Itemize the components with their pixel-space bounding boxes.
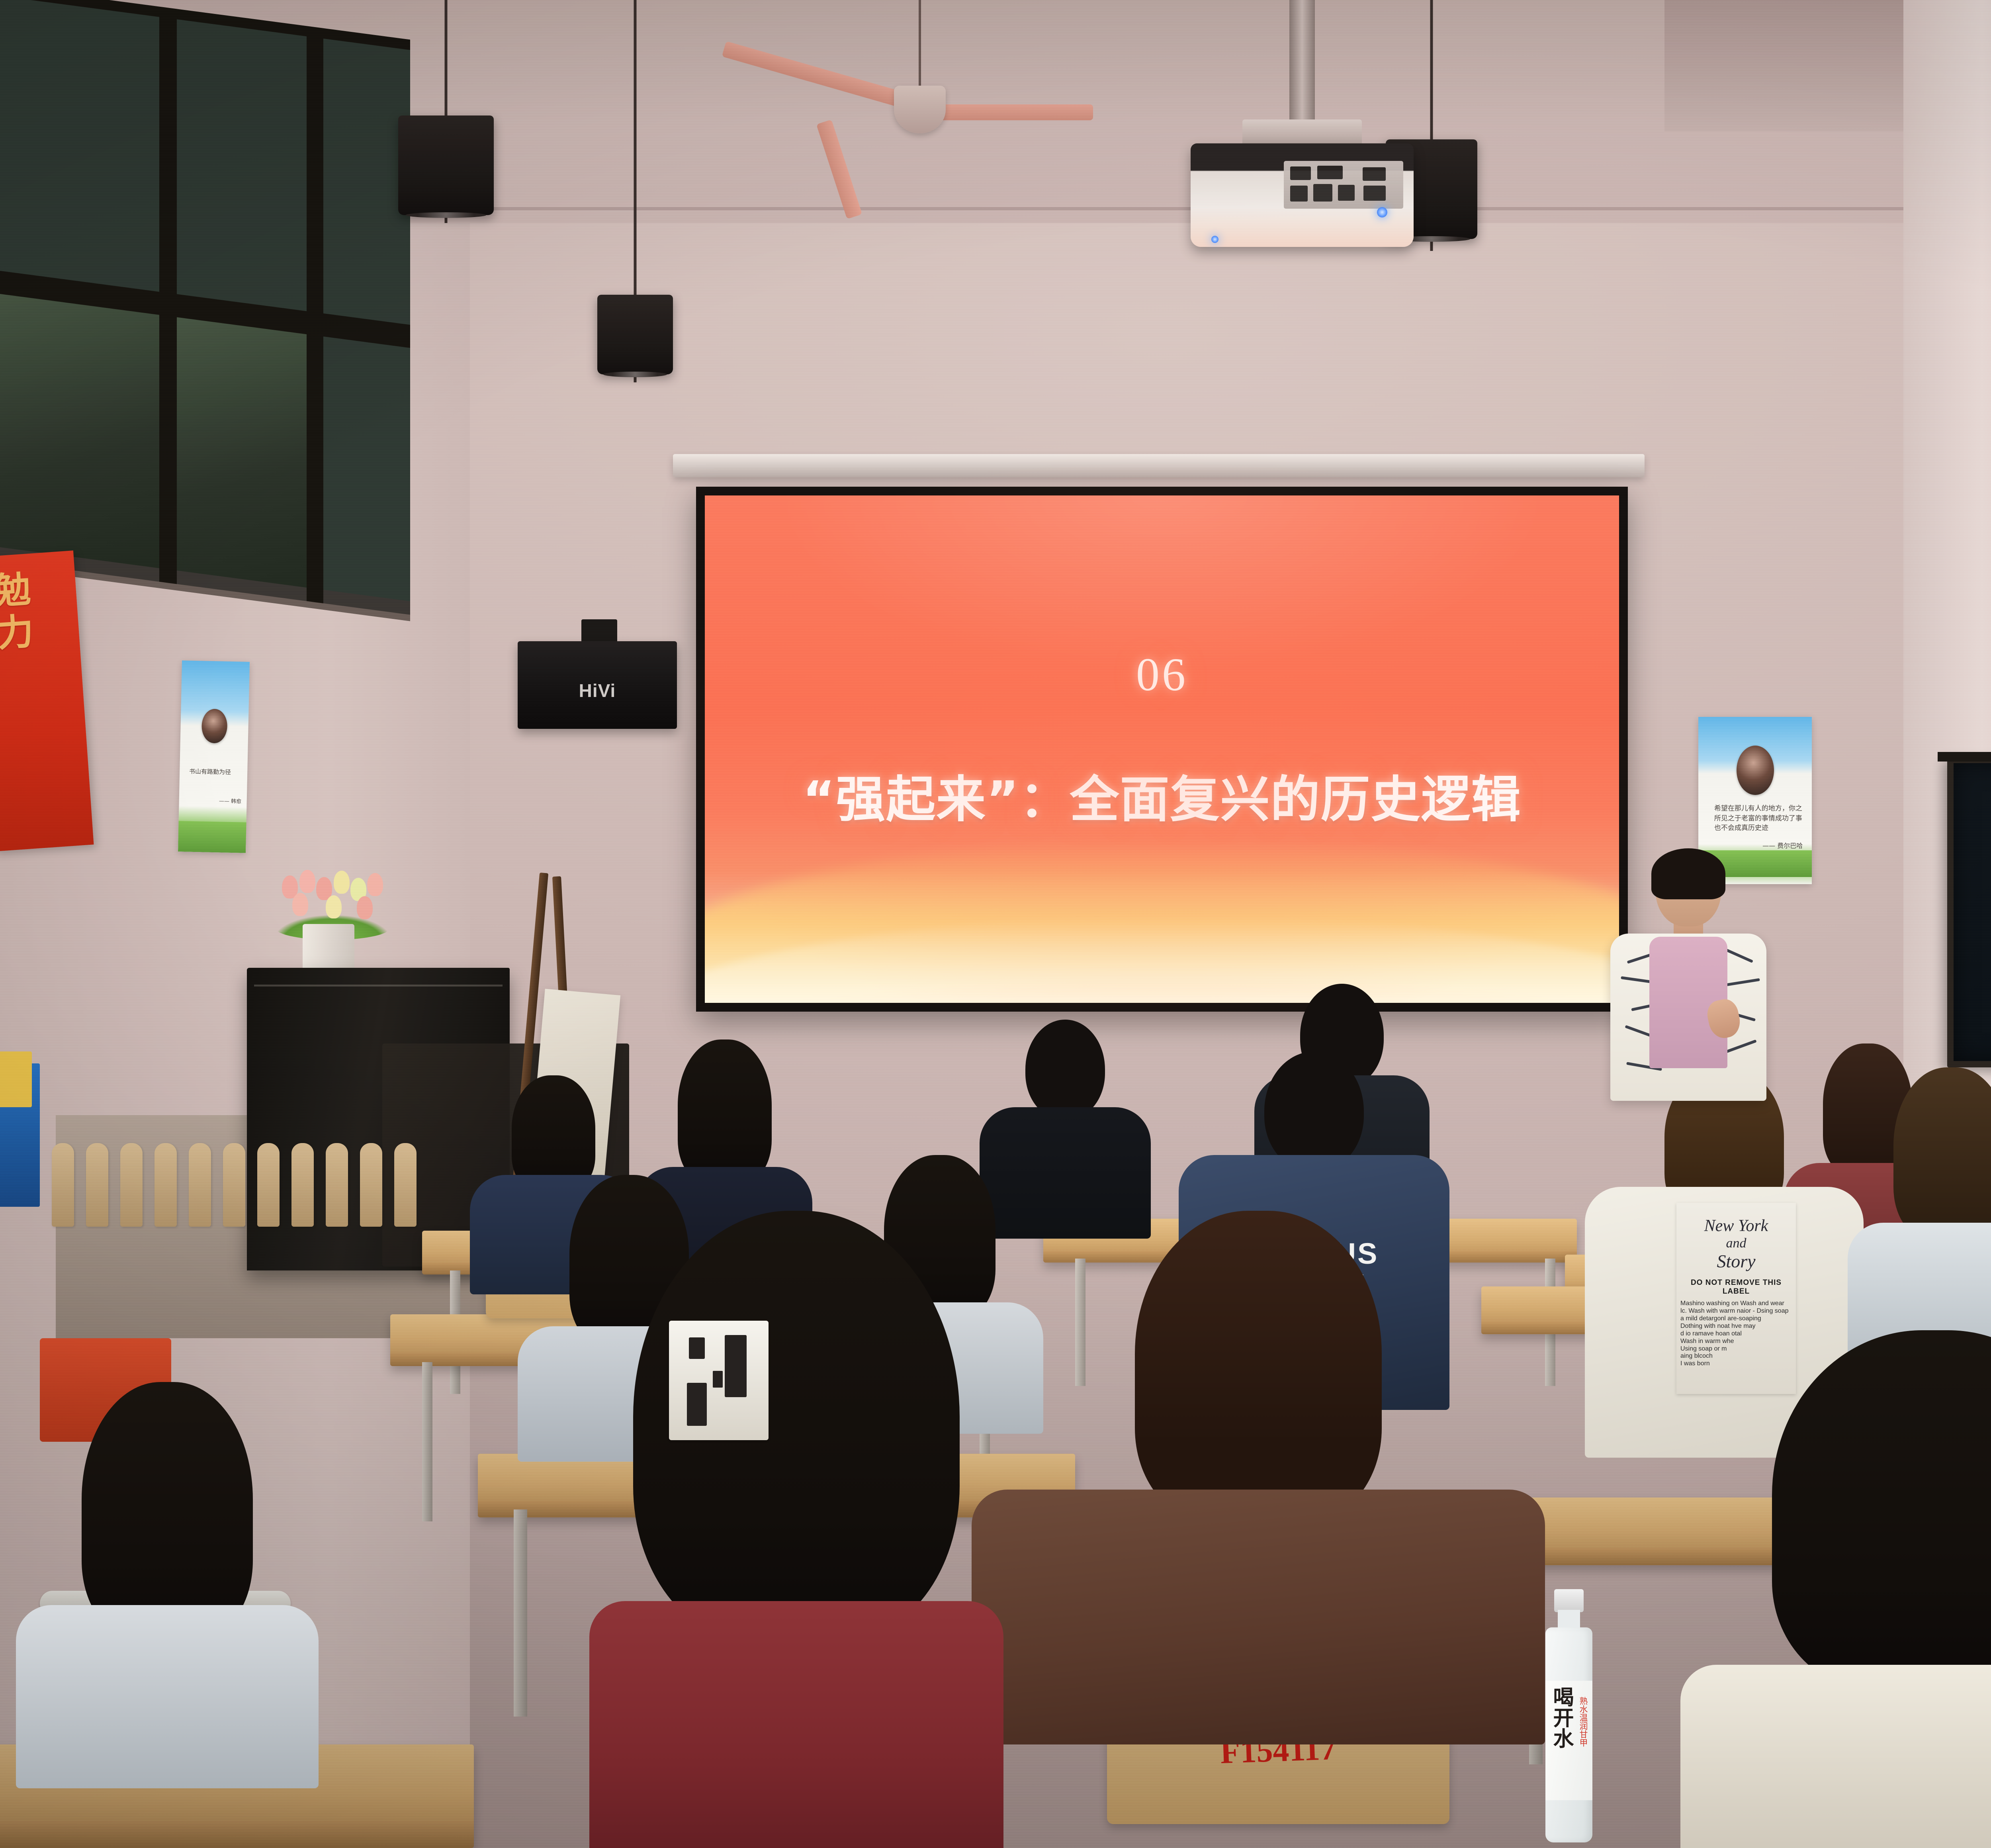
jacket-label-caption: DO NOT REMOVE THIS LABEL [1680,1278,1792,1296]
student-hair [1135,1211,1382,1521]
bottle-sub-text: 熟水温润甘甲 [1579,1697,1588,1747]
desk-leg [514,1509,527,1717]
student-front-left [16,1382,319,1780]
ceiling-projector [1191,0,1414,279]
presenter [1609,848,1768,1119]
projection-screen: 06 “强起来”：全面复兴的历史逻辑 [696,487,1628,1012]
hair-clip [669,1321,769,1440]
presentation-slide: 06 “强起来”：全面复兴的历史逻辑 [705,495,1619,1003]
ceiling-fan [780,0,1059,167]
student-hair [1893,1067,1991,1239]
banner-text: 勉力 [0,569,40,657]
jacket-hand-line-2: and [1680,1235,1792,1251]
classroom-photo: 06 “强起来”：全面复兴的历史逻辑 勉力 书山有路勤为径 —— 韩愈 希望在那… [0,0,1991,1848]
presenter-hair [1651,848,1725,899]
student-head [1264,1051,1364,1171]
student-hair [82,1382,253,1637]
pendant-light-1 [398,0,494,223]
bottle-cap [1554,1589,1584,1612]
student-front-hairclip [589,1211,1003,1848]
student-front-brown-jacket [972,1211,1545,1740]
poster-right-attribution: —— 费尔巴哈 [1762,840,1803,850]
student-front-dark-right [1680,1330,1991,1848]
student-mid-right [1848,1067,1991,1370]
water-bottle-center[interactable]: 喝开水 熟水温润甘甲 [1541,1589,1597,1844]
yellow-wall-tag [0,1051,32,1107]
blackboard [1947,757,1991,1067]
jacket-hand-line-3: Story [1680,1251,1792,1272]
screen-housing [673,454,1645,477]
jacket-hand-line-1: New York [1680,1216,1792,1235]
poster-right-quote: 希望在那儿有人的地方，你之所见之于老富的事情成功了事也不会成真历史迹 [1714,804,1803,833]
student-torso [1680,1665,1991,1848]
wall-poster-left: 书山有路勤为径 —— 韩愈 [178,660,250,853]
speaker-brand-label: HiVi [518,680,677,701]
student-torso [589,1601,1003,1848]
window-bank [0,0,410,621]
bottle-brand-text: 喝开水 [1551,1686,1572,1748]
student-torso [16,1605,319,1788]
desk-leg [422,1362,432,1521]
rolling-pin-rack [48,1127,494,1227]
slide-title: “强起来”：全面复兴的历史逻辑 [705,759,1619,831]
student-hair [512,1075,595,1191]
student-hair [1772,1330,1991,1689]
bottle-label: 喝开水 熟水温润甘甲 [1545,1681,1592,1800]
poster-left-attribution: —— 韩愈 [219,797,242,805]
wall-speaker: HiVi [518,641,677,729]
student-head [1025,1020,1105,1119]
pendant-light-2 [597,0,673,382]
bottle-neck [1558,1610,1580,1630]
student-torso [972,1490,1545,1744]
slide-number: 06 [705,648,1619,702]
student-hair [678,1039,772,1183]
poster-left-quote: 书山有路勤为径 [189,767,242,777]
